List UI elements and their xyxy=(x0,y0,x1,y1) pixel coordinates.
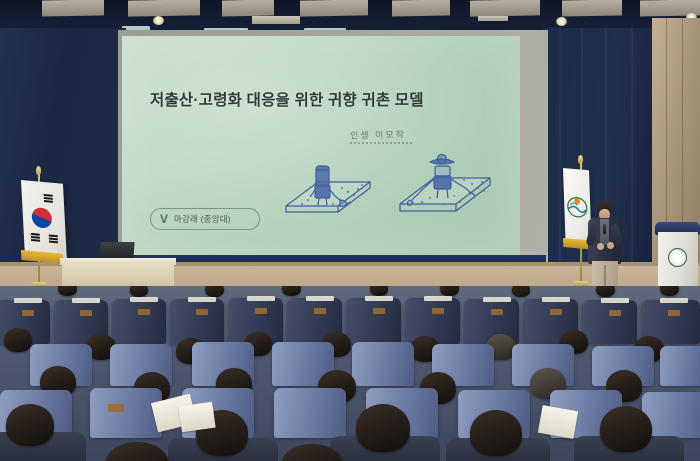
trigram-gam xyxy=(49,241,58,243)
auditorium-seat xyxy=(90,388,162,438)
attendee-head xyxy=(282,286,301,296)
microphone xyxy=(603,224,606,234)
ceiling-spotlight xyxy=(153,16,164,25)
speaker-hand-left xyxy=(597,243,604,250)
slide-speaker-chip: V 마강래 (중앙대) xyxy=(150,208,260,230)
attendee-head xyxy=(4,328,32,352)
ceiling-baffle xyxy=(562,0,622,17)
subtitle-underline xyxy=(350,142,412,144)
attendee-head xyxy=(512,286,530,297)
ceiling-baffle xyxy=(300,0,368,17)
attendee-head xyxy=(58,286,77,296)
auditorium-lecture-photo: 저출산·고령화 대응을 위한 귀향 귀촌 모델 인생 이모작 xyxy=(0,0,700,461)
attendee-head xyxy=(596,286,615,297)
attendee-head xyxy=(106,442,168,461)
speaker-hand-right xyxy=(607,242,614,249)
trigram-geon xyxy=(44,194,53,196)
seat-label-strip xyxy=(365,296,393,301)
seat-label-strip xyxy=(247,296,275,301)
curtain-fold xyxy=(559,28,561,290)
attendee-head xyxy=(356,404,410,452)
audience-area xyxy=(0,286,700,461)
taeguk-symbol-icon xyxy=(31,207,52,229)
seat-label-strip xyxy=(306,296,334,301)
illustration-person-feeding-chickens xyxy=(278,154,378,232)
seat-number-tag xyxy=(80,310,92,316)
attendee-head xyxy=(205,286,224,297)
trigram-gon xyxy=(31,236,40,238)
seat-label-strip xyxy=(130,297,158,302)
slide-handwritten-subtitle: 인생 이모작 xyxy=(350,128,406,142)
auditorium-seat xyxy=(274,388,346,438)
auditorium-seat xyxy=(582,300,637,344)
seat-number-tag xyxy=(609,310,621,316)
slide-title: 저출산·고령화 대응을 위한 귀향 귀촌 모델 xyxy=(150,88,424,110)
attendee-head xyxy=(660,286,679,296)
seat-label-strip xyxy=(660,298,688,303)
presentation-slide: 저출산·고령화 대응을 위한 귀향 귀촌 모델 인생 이모작 xyxy=(122,36,520,258)
seat-number-tag xyxy=(550,309,562,315)
trigram-gam xyxy=(49,238,58,240)
podium-emblem-icon xyxy=(668,248,687,267)
trigram-gam xyxy=(49,235,58,237)
seat-label-strip xyxy=(14,298,42,303)
attendee-head xyxy=(370,286,388,296)
ceiling-spotlight xyxy=(556,17,567,26)
attendee-head xyxy=(440,286,459,296)
auditorium-seat xyxy=(346,298,401,344)
attendee-head xyxy=(6,404,54,446)
seat-label-strip xyxy=(72,298,100,303)
seat-number-tag xyxy=(432,308,444,314)
seat-number-tag xyxy=(491,309,503,315)
seat-number-tag xyxy=(22,310,34,316)
seat-number-tag xyxy=(108,404,124,412)
ceiling-baffle xyxy=(392,0,450,17)
ceiling-baffle xyxy=(42,0,104,17)
seat-label-strip xyxy=(188,297,216,302)
auditorium-seat xyxy=(112,299,166,344)
printed-handout xyxy=(538,405,578,439)
printed-handout xyxy=(178,402,215,432)
seat-number-tag xyxy=(668,310,680,316)
seat-label-strip xyxy=(483,297,511,302)
seat-number-tag xyxy=(314,308,326,314)
seat-label-strip xyxy=(424,296,452,301)
ceiling-baffle xyxy=(128,0,200,17)
trigram-gon xyxy=(31,233,40,235)
korean-national-flag xyxy=(21,180,67,258)
seat-number-tag xyxy=(255,308,267,314)
seat-number-tag xyxy=(373,308,385,314)
seat-number-tag xyxy=(196,309,208,315)
seat-label-strip xyxy=(601,298,629,303)
ceiling-baffle xyxy=(222,0,274,16)
attendee-head xyxy=(600,406,652,452)
v-logo-icon: V xyxy=(160,213,168,225)
attendee-head xyxy=(130,286,148,297)
ceiling-baffle xyxy=(470,0,540,17)
seat-number-tag xyxy=(138,309,150,315)
auditorium-seat xyxy=(660,346,700,386)
laptop-screen xyxy=(99,242,134,259)
trigram-geon xyxy=(44,200,53,202)
auditorium-seat xyxy=(170,299,224,344)
seat-label-strip xyxy=(542,297,570,302)
trigram-geon xyxy=(44,197,53,199)
auditorium-seat xyxy=(352,342,414,386)
ceiling-vent xyxy=(252,16,300,24)
ceiling-vent xyxy=(478,16,508,21)
trigram-gon xyxy=(31,239,40,241)
curtain-fold xyxy=(631,28,633,290)
slide-speaker-label: 마강래 (중앙대) xyxy=(174,213,231,225)
illustration-farmer-with-hoe xyxy=(394,146,498,232)
attendee-head xyxy=(470,410,522,456)
